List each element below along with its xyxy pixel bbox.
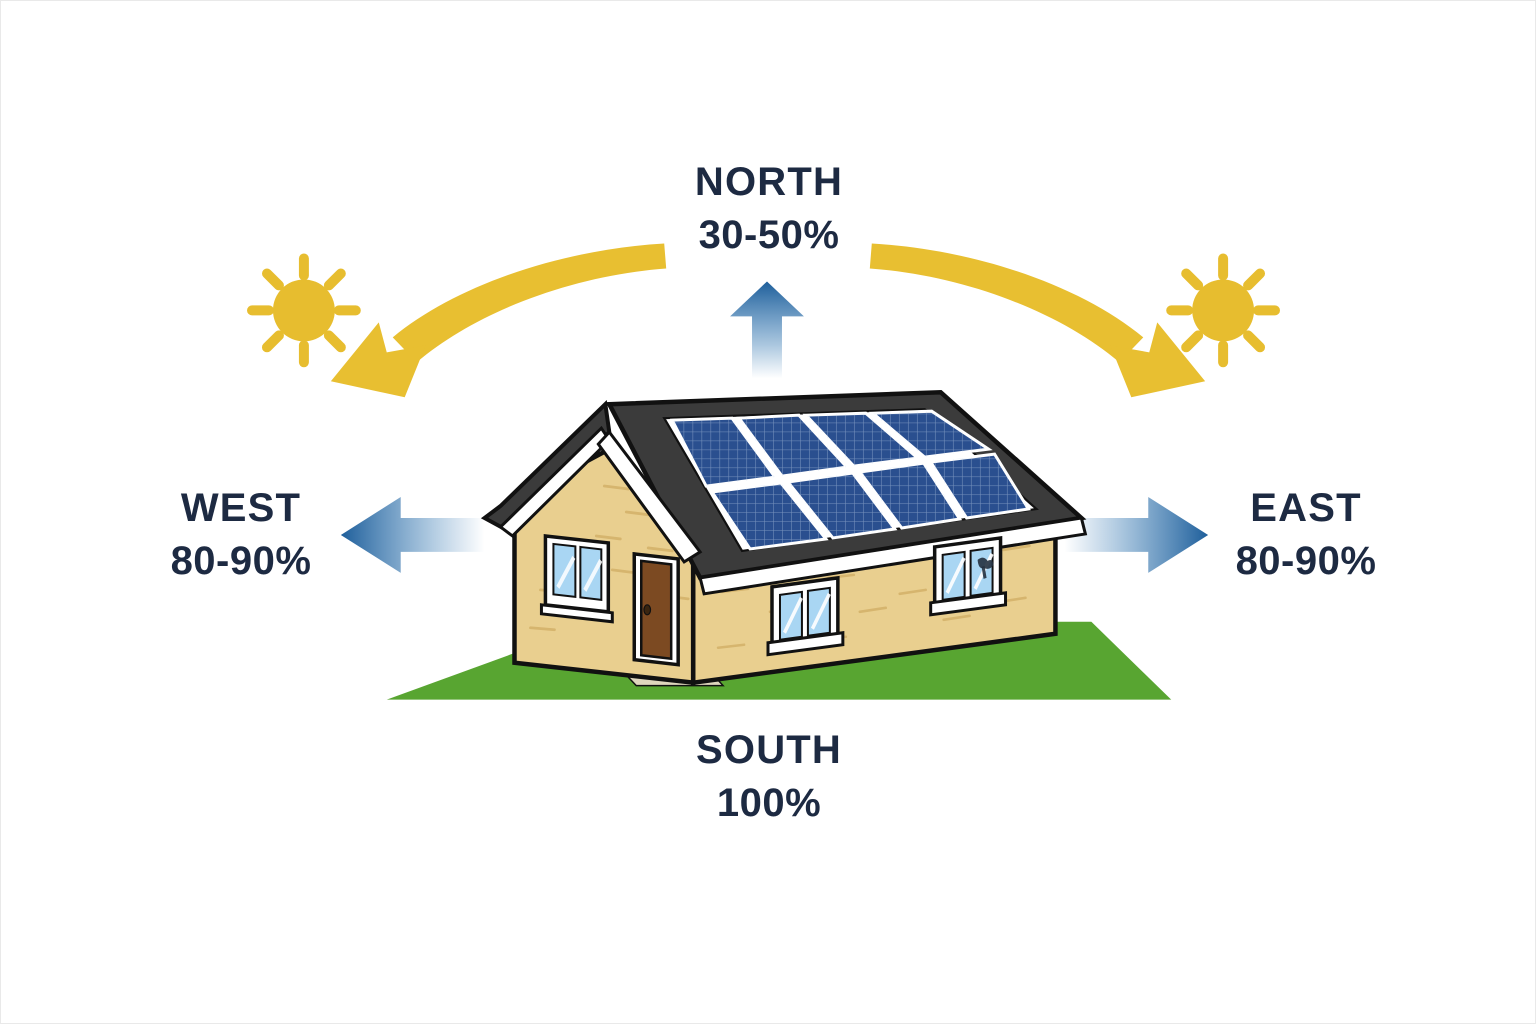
label-east-direction: EAST	[1181, 487, 1431, 530]
label-north-percent: 30-50%	[609, 214, 929, 257]
sun-icon-right	[1171, 258, 1275, 362]
house-with-solar-panels	[485, 392, 1086, 685]
arrow-left-icon	[341, 497, 485, 573]
label-north-direction: NORTH	[609, 161, 929, 204]
side-window-1	[768, 578, 843, 655]
sun-icon-left	[252, 258, 356, 362]
label-south-percent: 100%	[609, 782, 929, 825]
front-window	[541, 536, 612, 622]
label-south: SOUTH 100%	[609, 729, 929, 825]
label-east-percent: 80-90%	[1181, 540, 1431, 583]
label-east: EAST 80-90%	[1181, 487, 1431, 583]
door-knob	[644, 605, 651, 615]
label-south-direction: SOUTH	[609, 729, 929, 772]
side-window-2	[931, 538, 1006, 615]
arrow-up-icon	[730, 281, 804, 378]
label-north: NORTH 30-50%	[609, 161, 929, 257]
sun-path-arc-arrow-left-icon	[331, 244, 666, 398]
infographic-canvas: NORTH 30-50% SOUTH 100% WEST 80-90% EAST…	[0, 0, 1536, 1024]
label-west: WEST 80-90%	[121, 487, 361, 583]
label-west-percent: 80-90%	[121, 540, 361, 583]
front-door	[634, 554, 678, 665]
sun-path-arc-arrow-right-icon	[870, 244, 1205, 398]
label-west-direction: WEST	[121, 487, 361, 530]
